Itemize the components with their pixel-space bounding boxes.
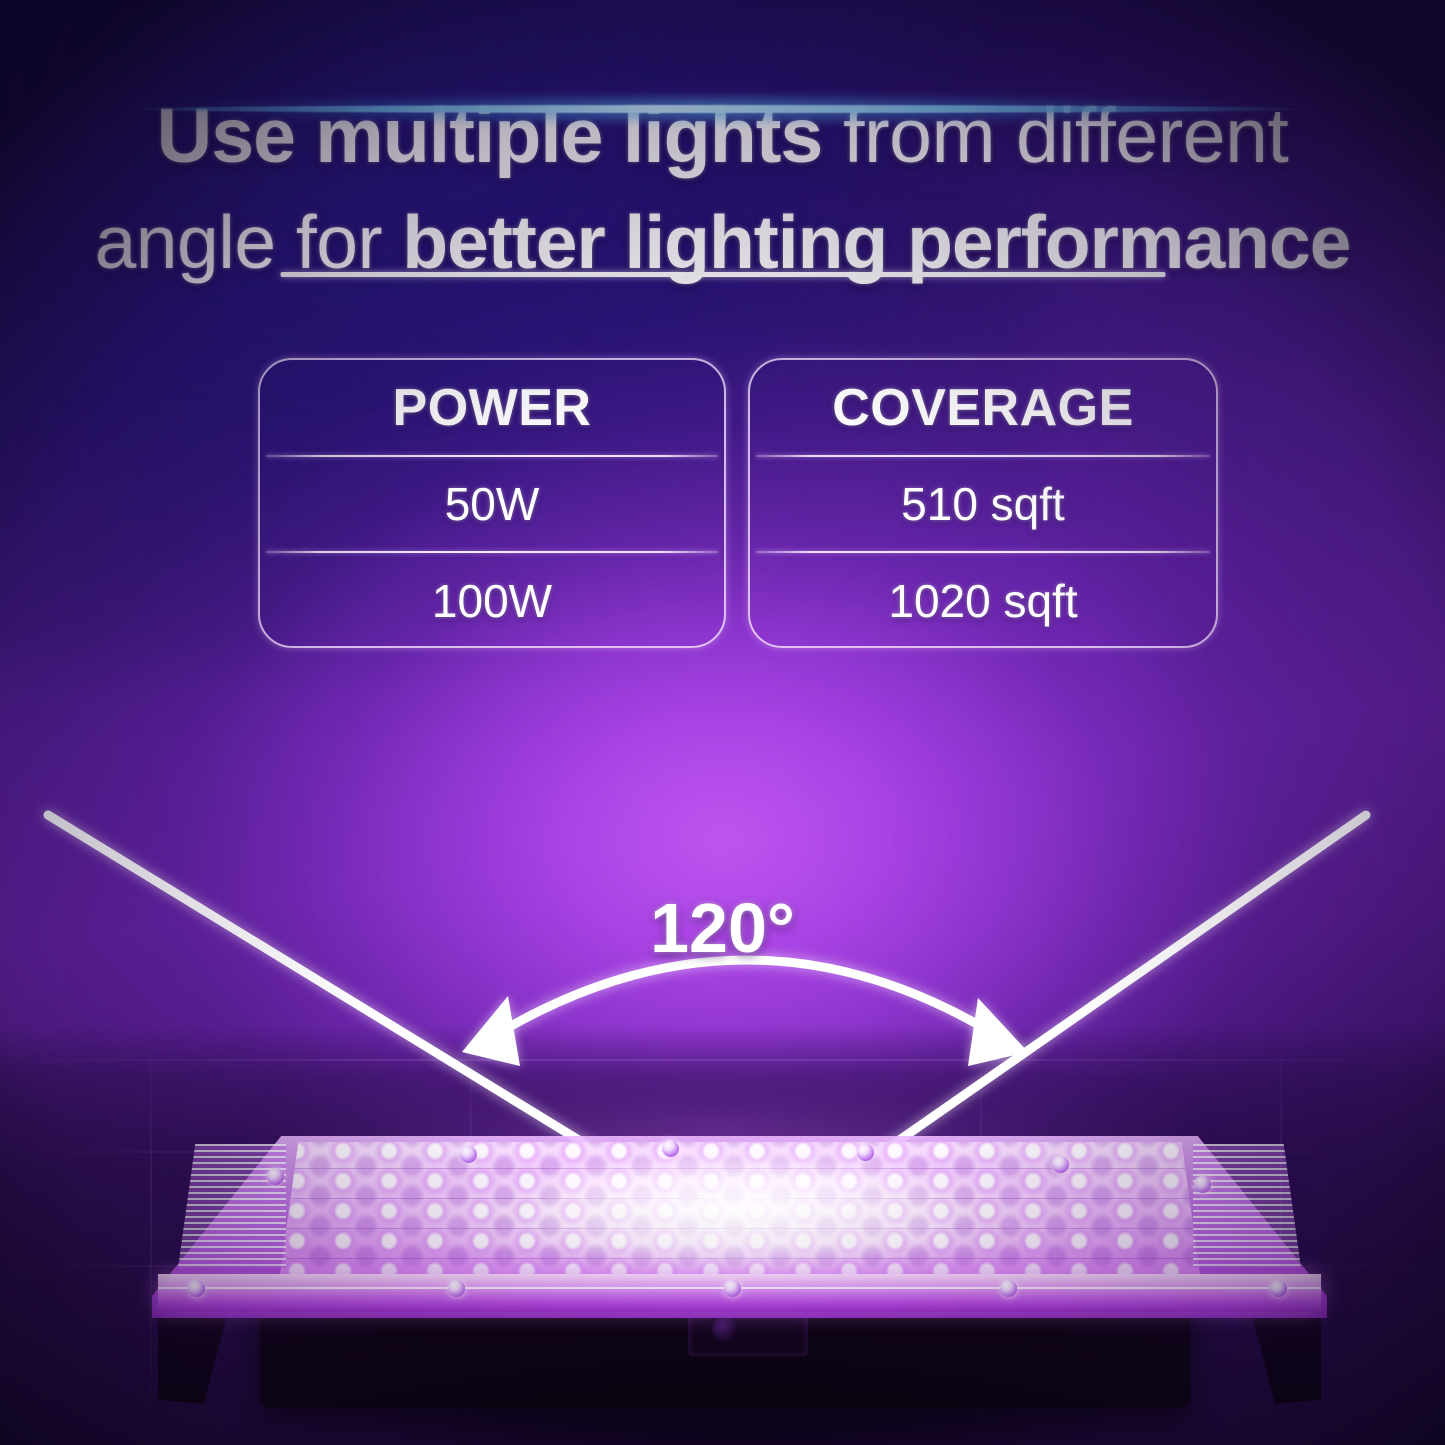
product-feature-image: Use multiple lights from different angle…: [0, 0, 1445, 1445]
vignette-overlay: [0, 0, 1445, 1445]
